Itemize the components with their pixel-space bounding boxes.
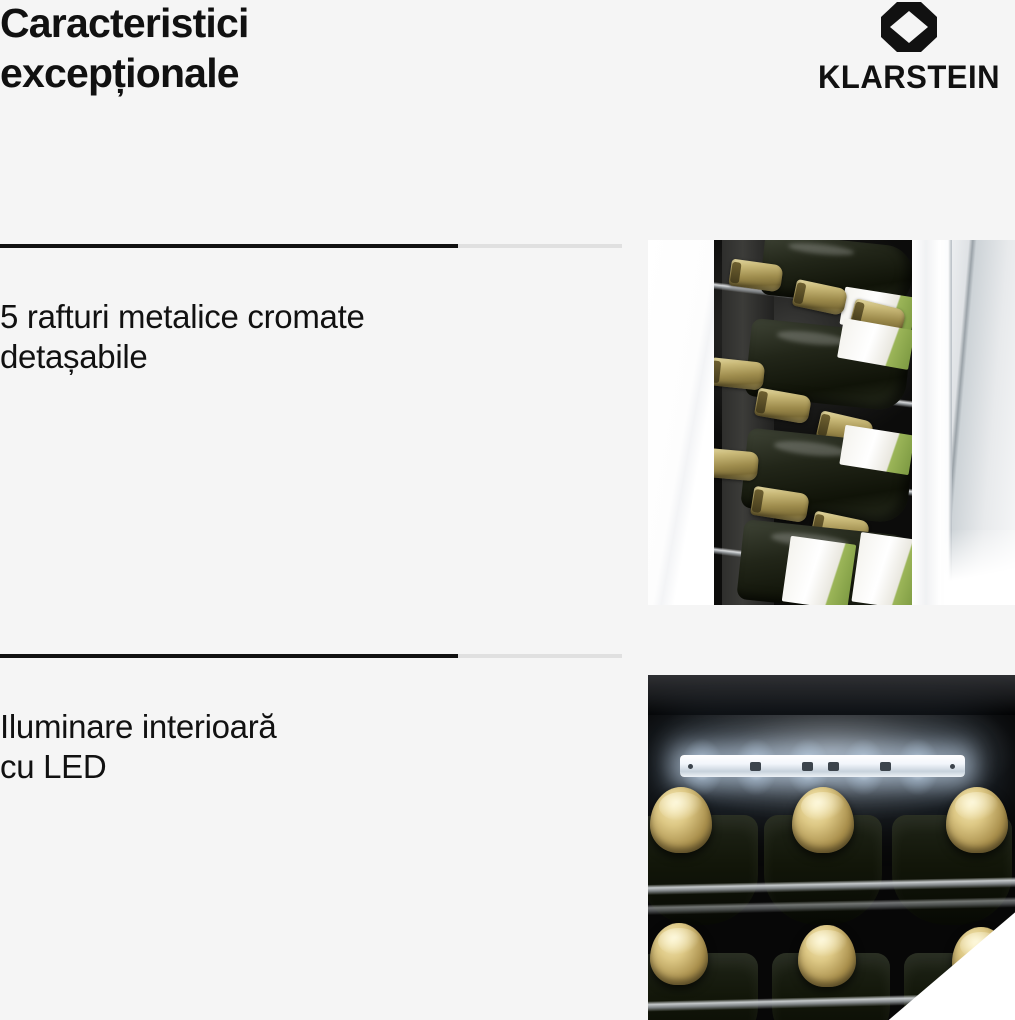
feature-row: Iluminare interioară cu LED bbox=[0, 650, 1015, 1020]
divider-light-segment bbox=[458, 654, 622, 658]
page-title: Caracteristici excepționale bbox=[0, 0, 620, 98]
wine-bottle-label bbox=[782, 536, 857, 605]
feature-text-column: 5 rafturi metalice cromate detașabile bbox=[0, 240, 625, 630]
klarstein-octagon-diamond-icon bbox=[881, 2, 937, 52]
feature-text-column: Iluminare interioară cu LED bbox=[0, 650, 625, 1020]
led-diode bbox=[880, 762, 891, 771]
led-screw bbox=[950, 764, 955, 769]
feature-divider bbox=[0, 244, 622, 248]
page-header: Caracteristici excepționale KLARSTEIN bbox=[0, 0, 1015, 120]
feature-label: 5 rafturi metalice cromate detașabile bbox=[0, 297, 600, 377]
led-diode bbox=[750, 762, 761, 771]
feature-row: 5 rafturi metalice cromate detașabile bbox=[0, 240, 1015, 630]
wine-bottle-neck bbox=[714, 357, 765, 390]
brand-wordmark: KLARSTEIN bbox=[806, 60, 1012, 94]
feature-label: Iluminare interioară cu LED bbox=[0, 707, 600, 787]
feature-image-column bbox=[648, 240, 1015, 630]
led-light-bar bbox=[680, 755, 965, 777]
led-lighting-photo bbox=[648, 675, 1015, 1020]
glass-highlight bbox=[944, 530, 1015, 605]
divider-dark-segment bbox=[0, 654, 458, 658]
led-diode bbox=[802, 762, 813, 771]
wine-bottle-cap bbox=[798, 925, 856, 987]
wine-bottle-cap bbox=[650, 923, 708, 985]
divider-dark-segment bbox=[0, 244, 458, 248]
cabinet-interior bbox=[714, 240, 912, 605]
chrome-shelves-photo bbox=[648, 240, 1015, 605]
cooler-ceiling bbox=[648, 675, 1015, 715]
divider-light-segment bbox=[458, 244, 622, 248]
wine-bottle-neck bbox=[714, 448, 759, 482]
led-screw bbox=[688, 764, 693, 769]
feature-divider bbox=[0, 654, 622, 658]
led-diode bbox=[828, 762, 839, 771]
wine-bottle-label bbox=[851, 532, 912, 605]
brand-logo: KLARSTEIN bbox=[803, 0, 1015, 96]
feature-image-column bbox=[648, 650, 1015, 1020]
